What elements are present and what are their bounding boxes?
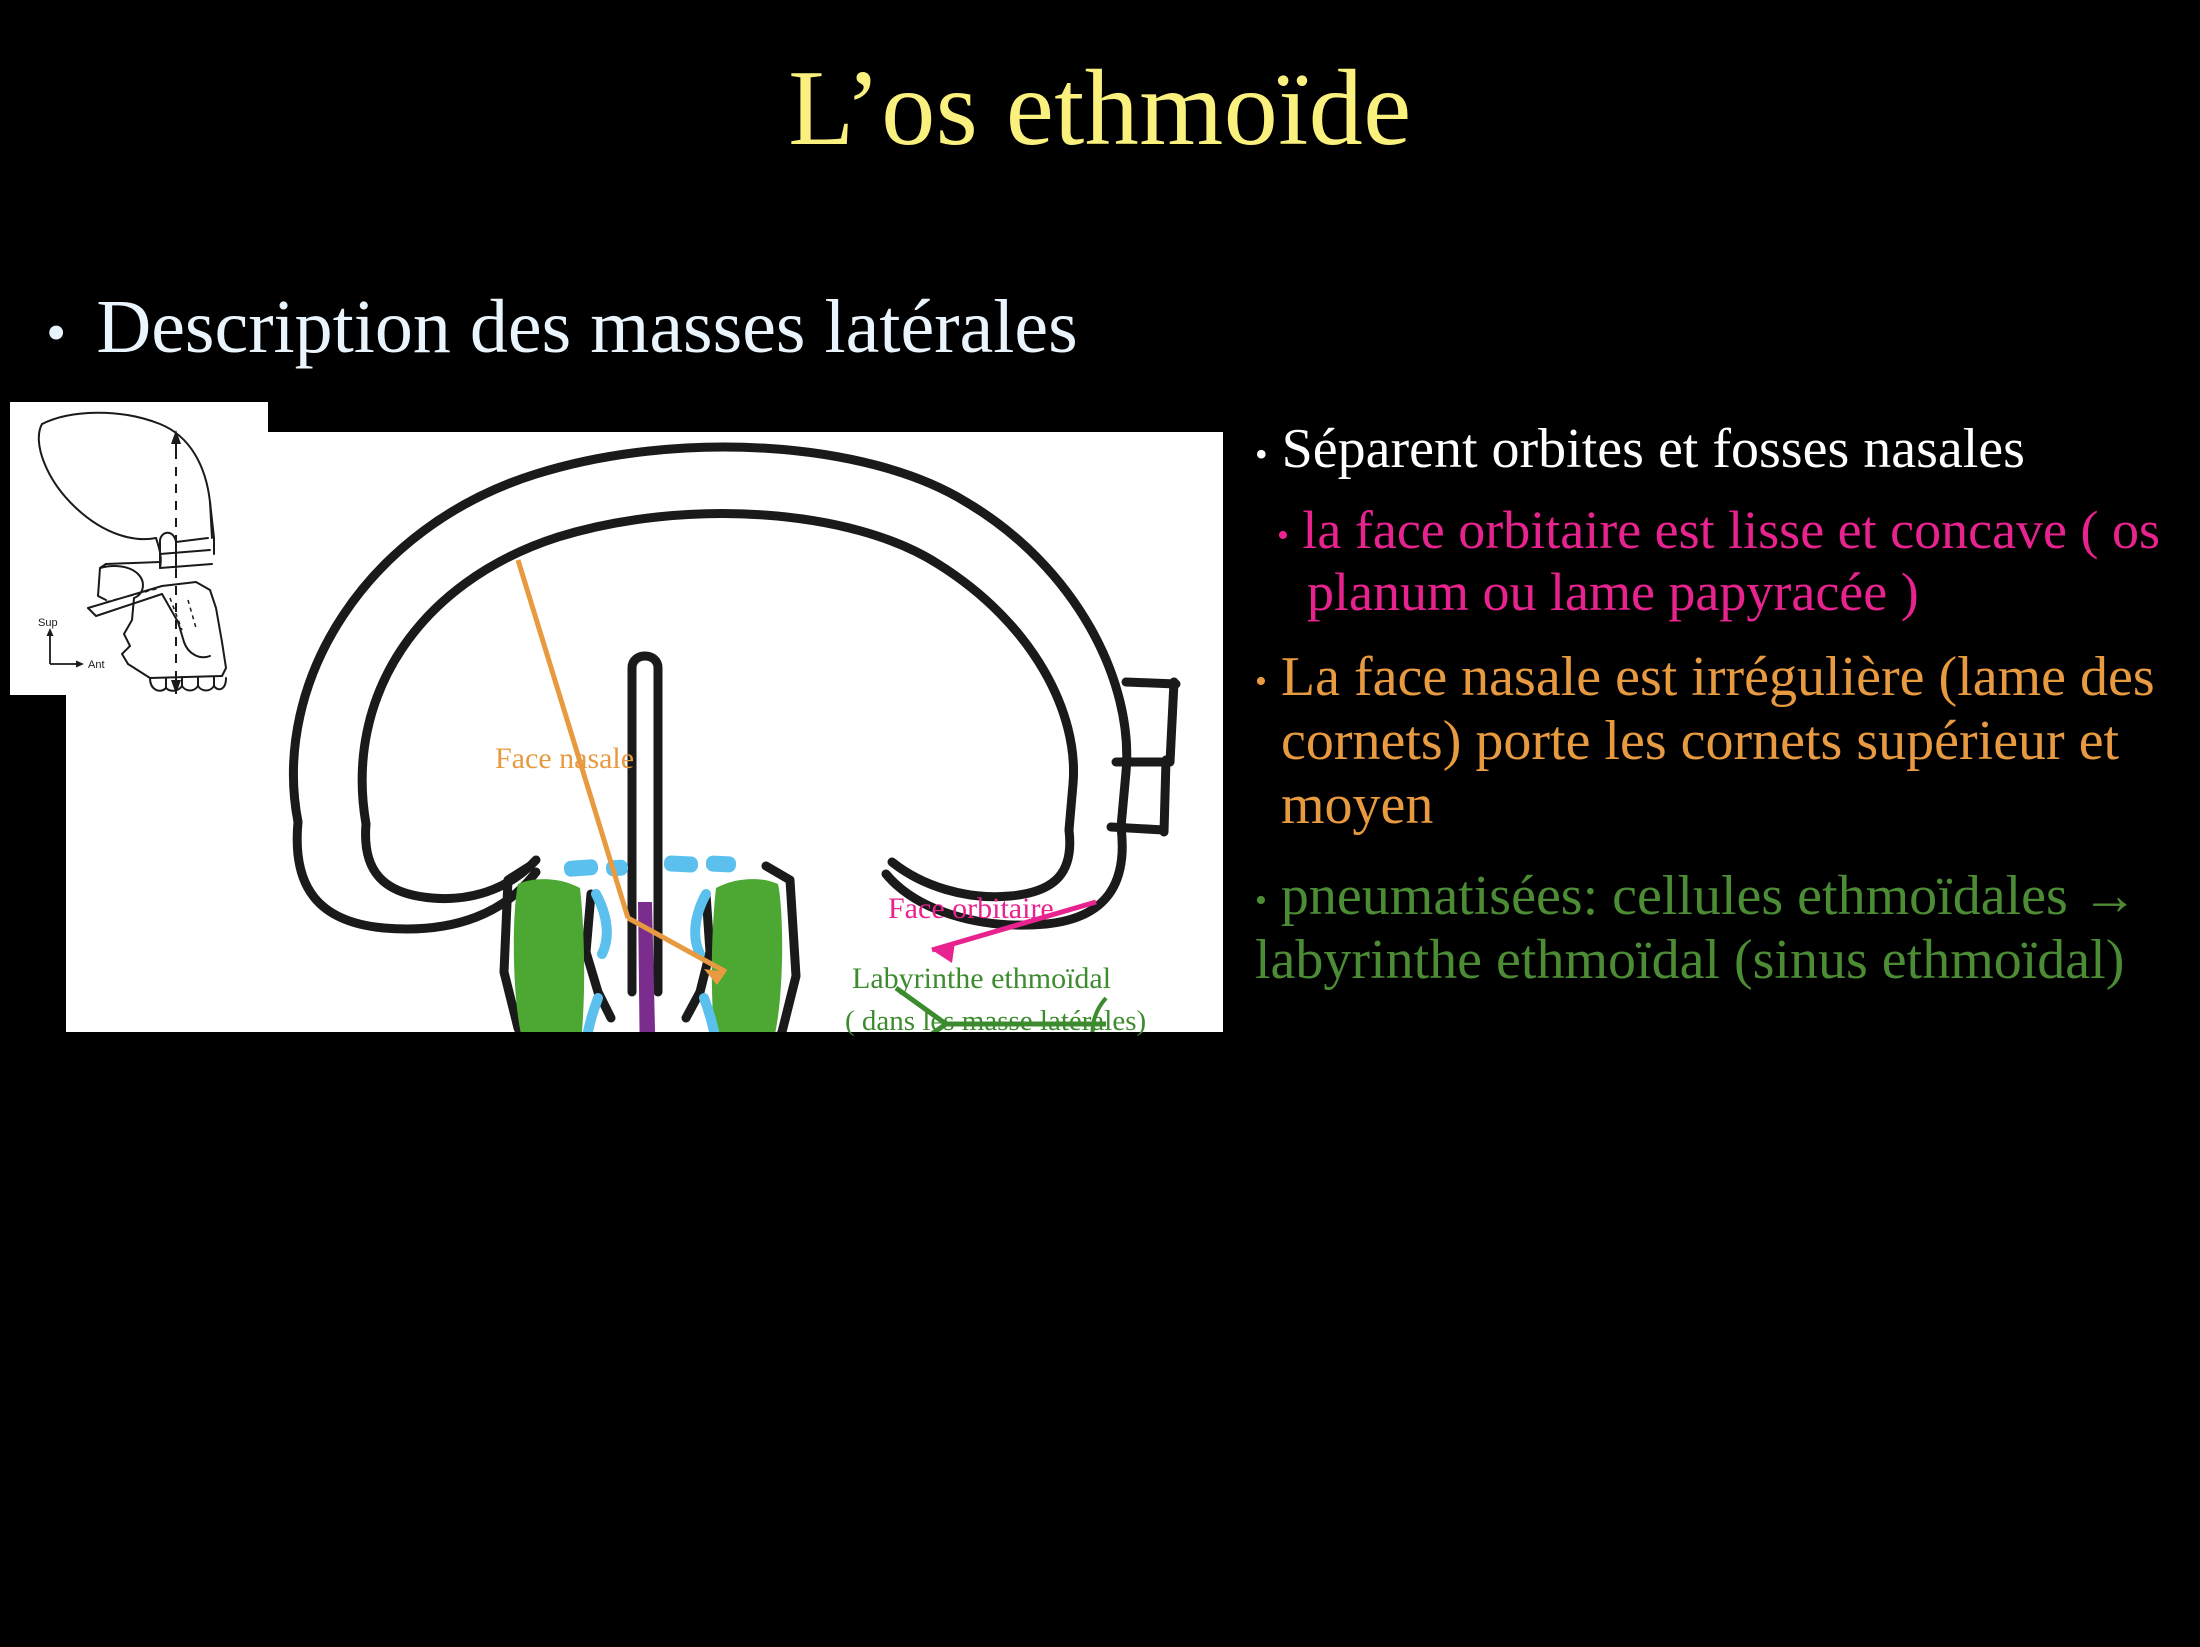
main-heading: • Description des masses latérales: [46, 288, 1078, 368]
bullet-text: La face nasale est irrégulière (lame des…: [1281, 646, 2155, 836]
slide-title: L’os ethmoïde: [0, 52, 2200, 165]
figure-label-labyrinthe-sub: ( dans les masse latérales): [845, 1005, 1146, 1038]
bullet-icon: •: [1255, 434, 1268, 474]
bullet-text: pneumatisées: cellules ethmoïdales → lab…: [1255, 865, 2138, 991]
lateral-skull-drawing: Sup Ant: [10, 402, 268, 695]
main-heading-label: Description des masses latérales: [96, 288, 1077, 368]
cribriform-plate: [563, 855, 736, 877]
left-labyrinth-mass: [514, 879, 584, 1032]
bullet-icon: •: [1255, 882, 1267, 919]
figure-label-labyrinthe-ethmoidal: Labyrinthe ethmoïdal: [852, 962, 1111, 996]
perpendicular-plate: [638, 902, 656, 1032]
bullet-pneumatisees: • pneumatisées: cellules ethmoïdales → l…: [1255, 865, 2200, 993]
right-text-column: • Séparent orbites et fosses nasales • l…: [1255, 418, 2200, 993]
bullet-separent-orbites: • Séparent orbites et fosses nasales: [1255, 418, 2200, 481]
bullet-face-orbitaire-lisse: • la face orbitaire est lisse et concave…: [1255, 499, 2200, 624]
bullet-face-nasale-irreguliere: • La face nasale est irrégulière (lame d…: [1255, 646, 2200, 837]
inset-lateral-skull-figure: Sup Ant: [10, 402, 268, 695]
inset-axis-superior-label: Sup: [38, 617, 58, 629]
figure-label-face-nasale: Face nasale: [495, 742, 634, 776]
slide-canvas: L’os ethmoïde • Description des masses l…: [0, 0, 2200, 1647]
bullet-text: Séparent orbites et fosses nasales: [1282, 418, 2025, 480]
bullet-icon: •: [46, 304, 66, 362]
inset-axis-anterior-label: Ant: [88, 659, 105, 671]
right-labyrinth-mass: [712, 879, 782, 1032]
bullet-icon: •: [1255, 663, 1267, 700]
bullet-icon: •: [1277, 517, 1289, 554]
bullet-text: la face orbitaire est lisse et concave (…: [1302, 500, 2160, 623]
figure-label-face-orbitaire: Face orbitaire: [888, 892, 1054, 926]
